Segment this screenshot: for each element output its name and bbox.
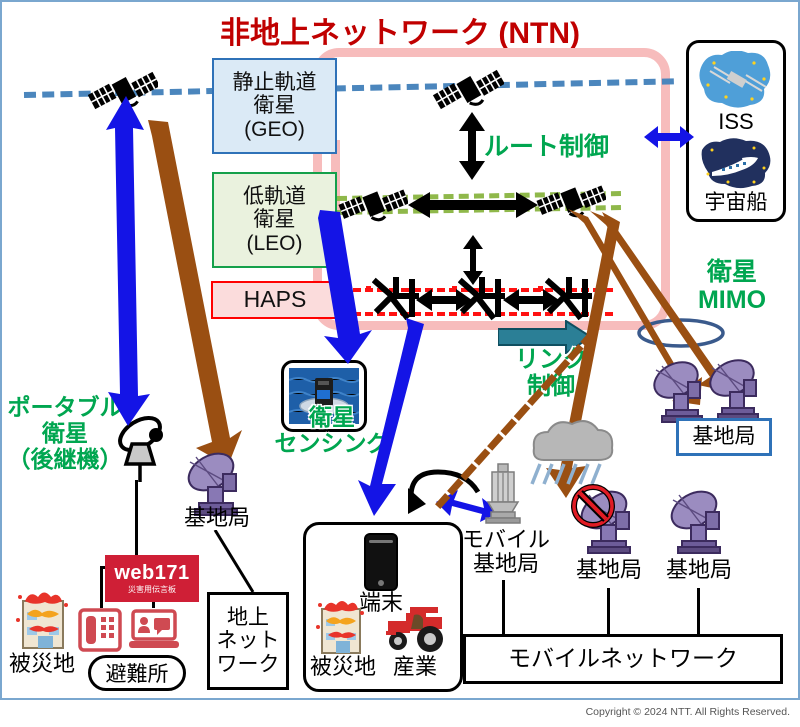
- portable-line3: （後継機）: [2, 447, 128, 473]
- desk-phone-icon: [78, 608, 122, 652]
- disaster-area-label-2: 被災地: [306, 655, 380, 680]
- spacecraft-image: [696, 138, 776, 190]
- leo-inter-satellite-arrow: [408, 190, 538, 220]
- frame-top-border: [0, 0, 800, 2]
- mobile-bs-line2: 基地局: [462, 552, 550, 576]
- space-assets-box: ISS 宇宙船: [686, 40, 786, 222]
- base-station-terrestrial-connector: [213, 530, 263, 594]
- base-station-ok-label: 基地局: [655, 558, 743, 582]
- iss-label: ISS: [689, 110, 783, 135]
- terrestrial-line1: 地上: [217, 606, 280, 630]
- base-station-blocked-label: 基地局: [565, 558, 653, 582]
- geo-label-line2: 衛星: [233, 94, 317, 118]
- parabolic-antenna-icon: [666, 488, 732, 556]
- ok-bs-network-connector: [697, 588, 700, 634]
- geo-label-line3: (GEO): [233, 118, 317, 142]
- mobile-base-station-label: モバイル 基地局: [462, 528, 550, 576]
- mobile-network-box: モバイルネットワーク: [463, 634, 783, 684]
- parabolic-antenna-icon: [650, 358, 712, 424]
- terrestrial-line2: ネット: [217, 629, 280, 653]
- frame-bottom-border: [0, 698, 800, 700]
- burning-building-icon: [14, 588, 72, 650]
- web171-badge: web171 災害用伝言板: [105, 555, 199, 602]
- haps-inter-link-arrow: [416, 288, 472, 312]
- route-control-label: ルート制御: [484, 133, 624, 161]
- geo-label-line1: 静止軌道: [233, 71, 317, 95]
- disaster-area-label: 被災地: [2, 652, 82, 676]
- leo-label-line2: 衛星: [243, 208, 306, 232]
- geo-base-station-brown-arrow: [134, 120, 244, 470]
- web171-sub-text: 災害用伝言板: [128, 586, 176, 594]
- parabolic-antenna-icon: [706, 356, 768, 422]
- diagram-title: 非地上ネットワーク (NTN): [0, 8, 800, 52]
- tractor-icon: [380, 605, 450, 653]
- laptop-icon: [128, 608, 180, 652]
- iss-image: [696, 51, 776, 109]
- frame-left-border: [0, 0, 2, 700]
- desk-phone-connector: [100, 566, 103, 608]
- web171-main-text: web171: [114, 563, 189, 583]
- mobile-bs-network-connector: [502, 580, 505, 634]
- leo-label-line1: 低軌道: [243, 185, 306, 209]
- terminal-industry-box: 端末 被災地 産業: [303, 522, 463, 692]
- diagram-canvas: 非地上ネットワーク (NTN): [0, 0, 800, 727]
- terrestrial-network-box: 地上 ネット ワーク: [207, 592, 289, 690]
- smartphone-icon: [364, 533, 398, 591]
- base-station-left-label: 基地局: [171, 506, 263, 530]
- terrestrial-line3: ワーク: [217, 653, 280, 677]
- shelter-pill: 避難所: [88, 655, 186, 691]
- ntn-space-link-arrow: [644, 122, 694, 152]
- mobile-bs-line1: モバイル: [462, 528, 550, 552]
- blocked-bs-network-connector: [607, 588, 610, 634]
- copyright-notice: Copyright © 2024 NTT. All Rights Reserve…: [0, 706, 790, 718]
- base-station-right-box: 基地局: [676, 418, 772, 456]
- industry-label: 産業: [378, 655, 452, 680]
- prohibition-icon: [570, 483, 616, 529]
- leo-label-line3: (LEO): [243, 232, 306, 256]
- burning-building-icon: [314, 597, 368, 655]
